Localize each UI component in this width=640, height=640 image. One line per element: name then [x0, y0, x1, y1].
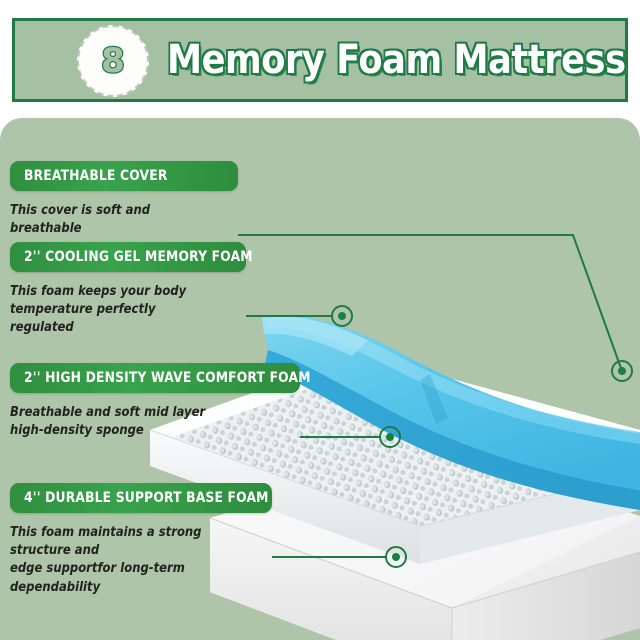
callout-description-base-foam: This foam maintains a strong structure a… [10, 523, 240, 596]
breathable-cover-layer [262, 315, 640, 510]
callout-label-base-foam: 4'' DURABLE SUPPORT BASE FOAM [24, 490, 269, 506]
callout-label-wave-comfort-foam: 2'' HIGH DENSITY WAVE COMFORT FOAM [24, 370, 311, 386]
page-title: Memory Foam Mattress [167, 37, 626, 83]
marker-cooling-gel [332, 306, 352, 326]
callout-pill-cooling-gel[interactable]: 2'' COOLING GEL MEMORY FOAM [10, 242, 246, 272]
callout-pill-base-foam[interactable]: 4'' DURABLE SUPPORT BASE FOAM [10, 483, 272, 513]
step-number-badge: 8 [77, 25, 149, 97]
marker-base-foam [386, 547, 406, 567]
marker-breathable-cover [612, 361, 632, 381]
connector-breathable-cover [238, 235, 622, 371]
callout-wave-comfort-foam: 2'' HIGH DENSITY WAVE COMFORT FOAM Breat… [10, 363, 305, 439]
callout-breathable-cover: BREATHABLE COVER This cover is soft and … [10, 161, 240, 237]
callout-description-breathable-cover: This cover is soft and breathable [10, 201, 208, 237]
header-inner: 8 Memory Foam Mattress [15, 21, 625, 99]
callout-pill-wave-comfort-foam[interactable]: 2'' HIGH DENSITY WAVE COMFORT FOAM [10, 363, 300, 393]
callout-pill-breathable-cover[interactable]: BREATHABLE COVER [10, 161, 238, 191]
callout-label-cooling-gel: 2'' COOLING GEL MEMORY FOAM [24, 249, 253, 265]
header-band: 8 Memory Foam Mattress [12, 18, 628, 102]
callout-label-breathable-cover: BREATHABLE COVER [24, 168, 168, 184]
marker-wave-comfort-foam [380, 427, 400, 447]
callout-description-wave-comfort-foam: Breathable and soft mid layer high-densi… [10, 403, 264, 439]
callout-base-foam: 4'' DURABLE SUPPORT BASE FOAM This foam … [10, 483, 278, 596]
step-number-badge-label: 8 [101, 44, 125, 78]
callout-cooling-gel: 2'' COOLING GEL MEMORY FOAM This foam ke… [10, 242, 250, 337]
content-panel: BREATHABLE COVER This cover is soft and … [0, 118, 640, 640]
callout-description-cooling-gel: This foam keeps your body temperature pe… [10, 282, 216, 337]
